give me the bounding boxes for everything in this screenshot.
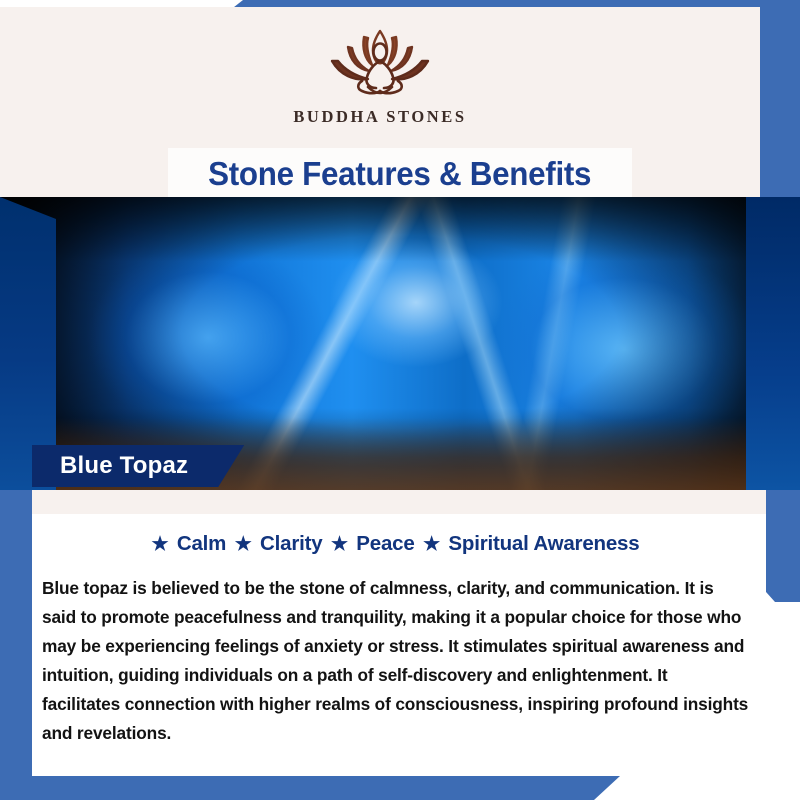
- infographic-page: BUDDHA STONES Stone Features & Benefits …: [0, 0, 800, 800]
- star-icon: ★: [152, 534, 169, 555]
- benefit-item: Calm: [171, 532, 231, 555]
- benefits-list: ★ Calm ★ Clarity ★ Peace ★ Spiritual Awa…: [38, 532, 756, 556]
- stone-name-badge: Blue Topaz: [32, 445, 244, 487]
- stone-name-label: Blue Topaz: [60, 452, 188, 480]
- brand-logo: BUDDHA STONES: [0, 25, 760, 127]
- benefit-item: Peace: [351, 532, 420, 555]
- hero-edge-right: [746, 197, 800, 490]
- page-title: Stone Features & Benefits: [208, 155, 591, 193]
- benefit-item: Spiritual Awareness: [443, 532, 640, 555]
- star-icon: ★: [331, 534, 348, 555]
- description-paragraph: Blue topaz is believed to be the stone o…: [38, 574, 756, 748]
- title-plate: Stone Features & Benefits: [168, 148, 632, 200]
- star-icon: ★: [423, 534, 440, 555]
- star-icon: ★: [235, 534, 252, 555]
- benefit-item: Clarity: [255, 532, 328, 555]
- content-section: ★ Calm ★ Clarity ★ Peace ★ Spiritual Awa…: [32, 514, 766, 776]
- content-top-strip: [32, 490, 766, 514]
- lotus-meditation-icon: [324, 25, 436, 101]
- frame-accent-bottom: [0, 776, 620, 800]
- header-section: BUDDHA STONES Stone Features & Benefits: [0, 7, 760, 197]
- brand-name: BUDDHA STONES: [293, 107, 466, 127]
